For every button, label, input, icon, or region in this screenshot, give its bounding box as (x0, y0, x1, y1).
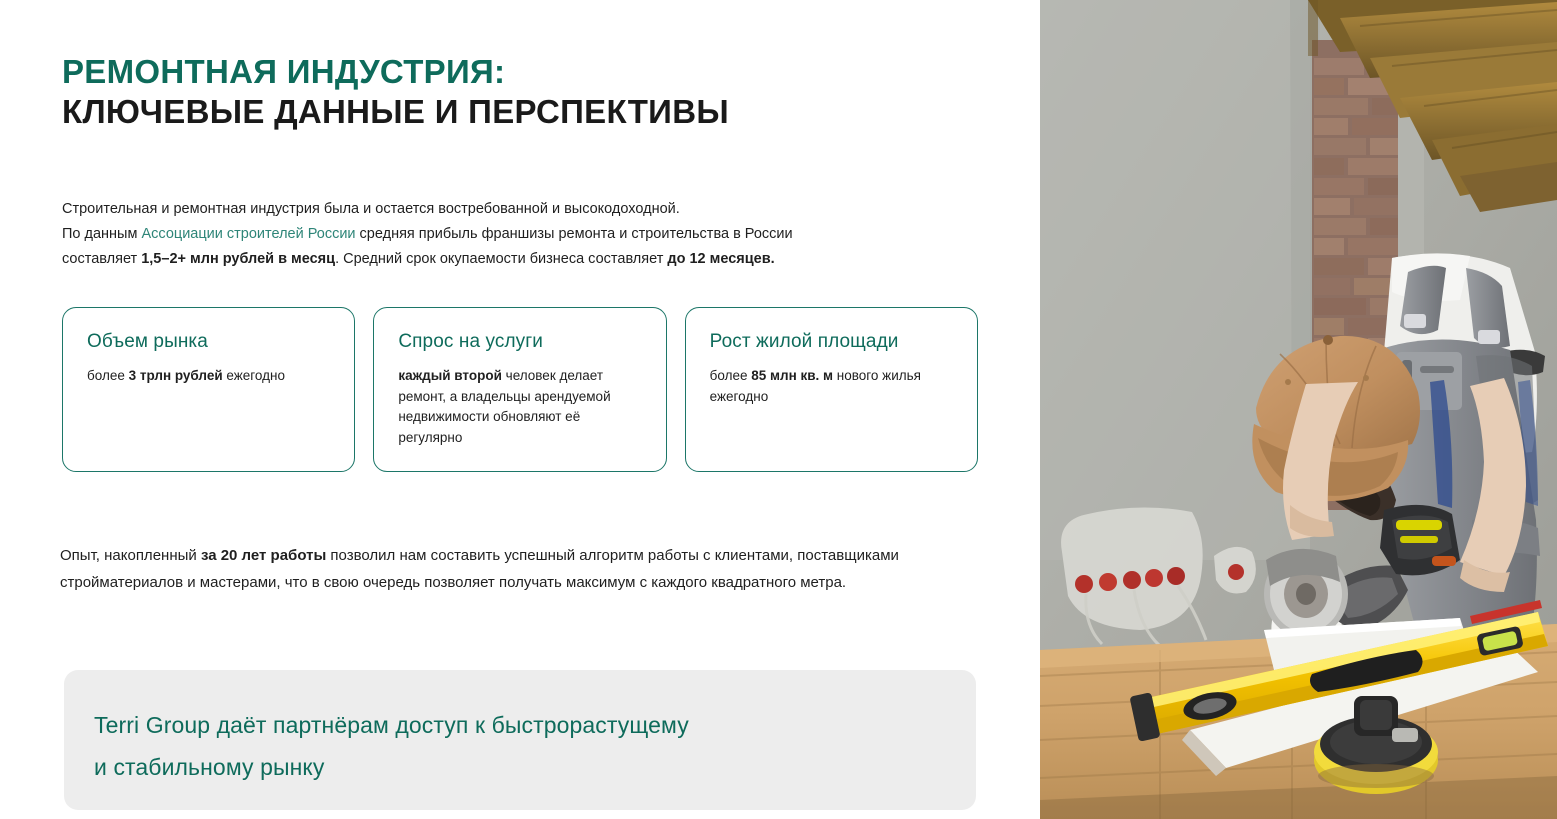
card-body-value: 3 трлн рублей (129, 368, 223, 383)
worker-photo (1040, 0, 1557, 819)
experience-years-value: за 20 лет работы (201, 547, 326, 564)
card-title: Спрос на услуги (398, 330, 643, 354)
card-body: более 85 млн кв. м нового жилья ежегодно (710, 366, 955, 407)
highlight-line-2: и стабильному рынку (94, 746, 934, 788)
highlight-line-1: Terri Group даёт партнёрам доступ к быст… (94, 704, 934, 746)
intro-line-3: составляет 1,5–2+ млн рублей в месяц. Ср… (62, 247, 962, 272)
intro-text-3b: . Средний срок окупаемости бизнеса соста… (335, 251, 667, 267)
card-body: каждый второй человек делает ремонт, а в… (398, 366, 643, 448)
card-market-volume: Объем рынка более 3 трлн рублей ежегодно (62, 307, 355, 472)
card-housing-growth: Рост жилой площади более 85 млн кв. м но… (685, 307, 978, 472)
intro-text-3a: составляет (62, 251, 141, 267)
card-body-suffix: ежегодно (223, 368, 285, 383)
content-column: РЕМОНТНАЯ ИНДУСТРИЯ: КЛЮЧЕВЫЕ ДАННЫЕ И П… (0, 0, 1040, 819)
card-body-value: каждый второй (398, 368, 502, 383)
association-link[interactable]: Ассоциации строителей России (141, 226, 355, 242)
card-body-prefix: более (710, 368, 752, 383)
intro-payback-value: до 12 месяцев. (667, 251, 774, 267)
card-body-value: 85 млн кв. м (751, 368, 833, 383)
page-title: РЕМОНТНАЯ ИНДУСТРИЯ: КЛЮЧЕВЫЕ ДАННЫЕ И П… (62, 52, 1002, 132)
experience-prefix: Опыт, накопленный (60, 547, 201, 564)
title-line-dark: КЛЮЧЕВЫЕ ДАННЫЕ И ПЕРСПЕКТИВЫ (62, 92, 1002, 132)
highlight-box: Terri Group даёт партнёрам доступ к быст… (64, 670, 976, 810)
slide-root: РЕМОНТНАЯ ИНДУСТРИЯ: КЛЮЧЕВЫЕ ДАННЫЕ И П… (0, 0, 1557, 819)
experience-paragraph: Опыт, накопленный за 20 лет работы позво… (60, 542, 960, 596)
intro-line-1: Строительная и ремонтная индустрия была … (62, 197, 962, 222)
card-title: Объем рынка (87, 330, 332, 354)
intro-profit-value: 1,5–2+ млн рублей в месяц (141, 251, 335, 267)
intro-text-2a: По данным (62, 226, 141, 242)
intro-text-1: Строительная и ремонтная индустрия была … (62, 201, 680, 217)
intro-text-2b: средняя прибыль франшизы ремонта и строи… (356, 226, 793, 242)
intro-line-2: По данным Ассоциации строителей России с… (62, 222, 962, 247)
card-title: Рост жилой площади (710, 330, 955, 354)
worker-photo-illustration (1040, 0, 1557, 819)
title-line-accent: РЕМОНТНАЯ ИНДУСТРИЯ: (62, 52, 1002, 92)
card-body: более 3 трлн рублей ежегодно (87, 366, 332, 387)
card-service-demand: Спрос на услуги каждый второй человек де… (373, 307, 666, 472)
stats-cards: Объем рынка более 3 трлн рублей ежегодно… (62, 307, 978, 472)
card-body-prefix: более (87, 368, 129, 383)
intro-paragraph: Строительная и ремонтная индустрия была … (62, 197, 962, 272)
